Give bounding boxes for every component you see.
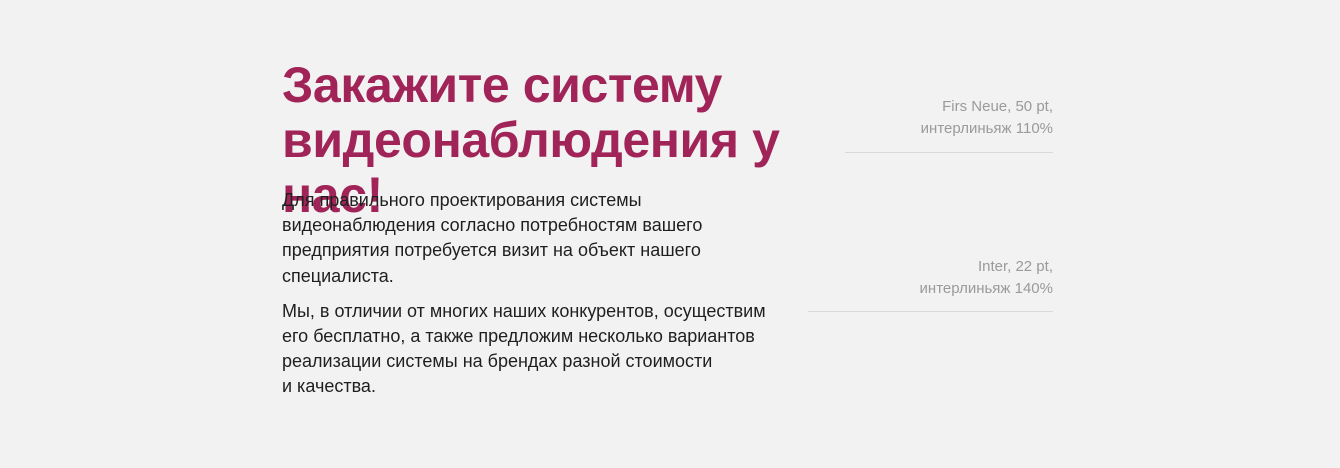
slide-canvas: Закажите систему видеонаблюдения у нас! … [0,0,1340,468]
body-paragraph-2: Мы, в отличии от многих наших конкуренто… [282,299,822,400]
body-copy-block: Для правильного проектирования системы в… [282,188,822,400]
body-spec-annotation: Inter, 22 pt, интерлиньяж 140% [793,256,1053,300]
headline-spec-annotation: Firs Neue, 50 pt, интерлиньяж 110% [793,96,1053,140]
body-leader-rule [808,311,1053,312]
headline-leader-rule [845,152,1053,153]
body-paragraph-1: Для правильного проектирования системы в… [282,188,822,289]
